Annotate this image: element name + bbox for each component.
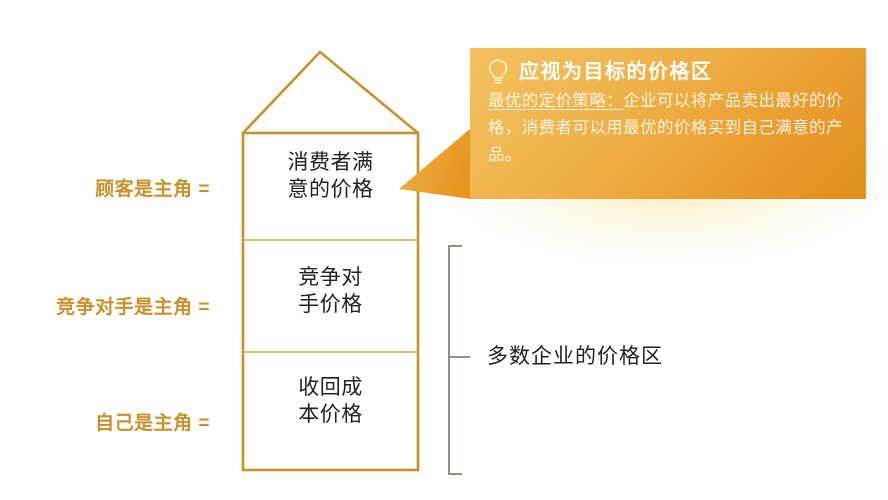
callout-title-row: 应视为目标的价格区: [486, 58, 854, 86]
callout-title: 应视为目标的价格区: [519, 61, 713, 83]
callout-body: 最优的定价策略：企业可以将产品卖出最好的价格，消费者可以用最优的价格买到自己满意…: [488, 88, 854, 170]
callout-body-underlined: 最优的定价策略：: [488, 92, 623, 110]
callout-box: 应视为目标的价格区 最优的定价策略：企业可以将产品卖出最好的价格，消费者可以用最…: [470, 48, 866, 199]
slide-canvas: 顾客是主角 = 竞争对手是主角 = 自己是主角 = 消费者满 意的价格 竞争对 …: [0, 0, 888, 500]
lightbulb-icon: [486, 58, 510, 86]
